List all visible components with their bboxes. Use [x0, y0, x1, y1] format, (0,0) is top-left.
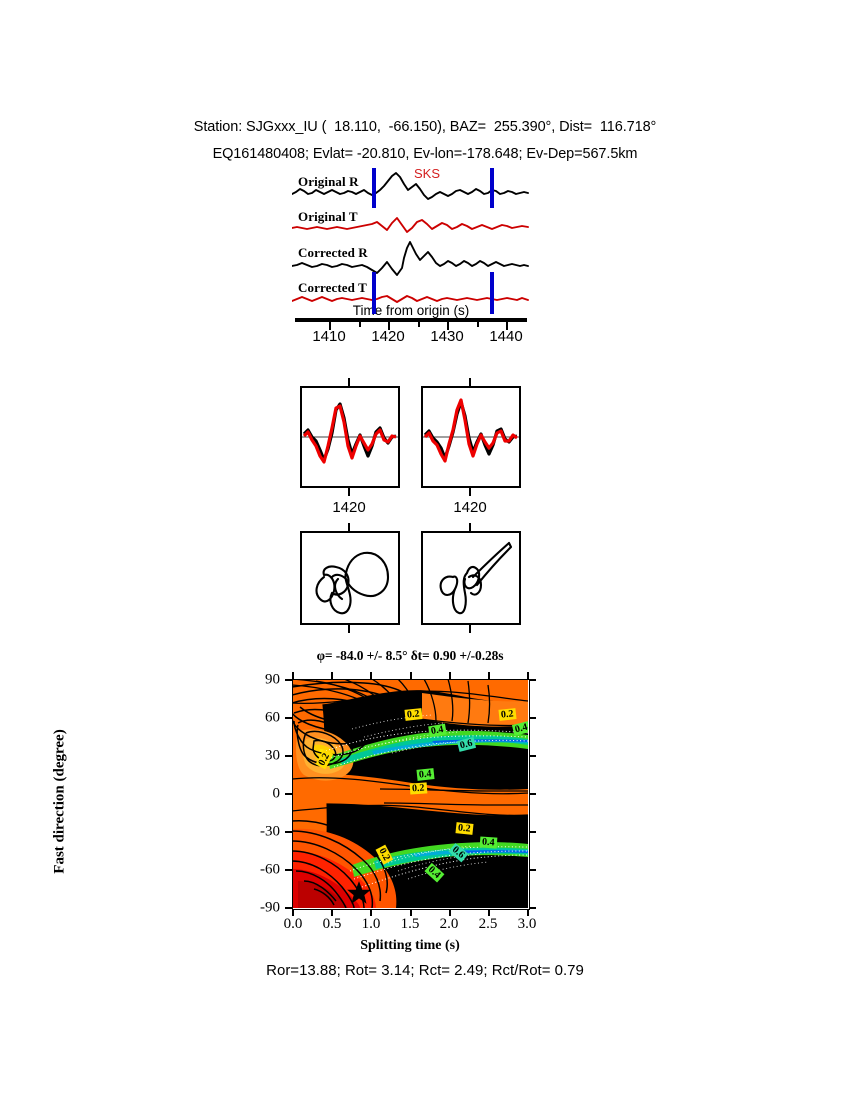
particle-motion-panel-1 [300, 531, 400, 625]
xtick-0-0 [292, 909, 294, 916]
ylabel-0: 0 [238, 786, 280, 803]
time-tick-minor-3 [477, 322, 479, 327]
pm2-top-tick [469, 523, 471, 531]
panel1-trace-red [304, 406, 396, 462]
xtick-0-5 [331, 909, 333, 916]
xtick-top-2-0 [449, 672, 451, 679]
error-surface-contour-plot: 0.2 0.4 0.2 0.4 0.6 0.2 0.4 0.2 0.2 0.4 … [292, 679, 528, 908]
ytick-right-m90 [529, 907, 536, 909]
ytick-m90 [285, 907, 292, 909]
pm2-bottom-tick [469, 625, 471, 633]
ylabel-90: 90 [238, 672, 280, 689]
seismic-splitting-figure: Station: SJGxxx_IU ( 18.110, -66.150), B… [0, 0, 850, 1100]
panel2-top-tick [469, 378, 471, 386]
ylabel-30: 30 [238, 748, 280, 765]
fast-slow-panel-2 [421, 386, 521, 488]
xtick-top-0-0 [292, 672, 294, 679]
fast-slow-panel-1 [300, 386, 400, 488]
particle-motion-panel-2 [421, 531, 521, 625]
xtick-top-1-0 [370, 672, 372, 679]
xlabel-3-0: 3.0 [518, 916, 537, 933]
ytick-right-90 [529, 679, 536, 681]
panel1-top-tick [348, 378, 350, 386]
y-axis-title: Fast direction (degree) [52, 687, 69, 917]
pm1-top-tick [348, 523, 350, 531]
ytick-right-m60 [529, 869, 536, 871]
ytick-m30 [285, 831, 292, 833]
splitting-result-title: φ= -84.0 +/- 8.5° δt= 0.90 +/-0.28s [292, 648, 528, 664]
x-axis-title: Splitting time (s) [292, 938, 528, 954]
fast-slow-traces-1 [302, 388, 398, 486]
xtick-2-0 [449, 909, 451, 916]
xlabel-2-5: 2.5 [479, 916, 498, 933]
window-start-marker-bottom [372, 272, 376, 314]
contour-label-1: 0.2 [404, 708, 422, 721]
time-tick-minor-1 [359, 322, 361, 327]
time-axis-title: Time from origin (s) [292, 303, 530, 318]
xtick-top-1-5 [410, 672, 412, 679]
particle-motion-path-2 [423, 533, 519, 623]
trace-label-corrected-r: Corrected R [298, 245, 368, 261]
xlabel-1-5: 1.5 [401, 916, 420, 933]
xtick-1-5 [410, 909, 412, 916]
xtick-top-3-0 [527, 672, 529, 679]
contour-label-7: 0.4 [416, 768, 434, 781]
xtick-2-5 [488, 909, 490, 916]
xtick-top-0-5 [331, 672, 333, 679]
ytick-90 [285, 679, 292, 681]
station-info-line: Station: SJGxxx_IU ( 18.110, -66.150), B… [0, 119, 850, 135]
event-info-line: EQ161480408; Evlat= -20.810, Ev-lon=-178… [0, 146, 850, 162]
ytick-right-m30 [529, 831, 536, 833]
fast-slow-traces-2 [423, 388, 519, 486]
contour-label-3: 0.2 [498, 708, 516, 721]
time-ticklabel-1410: 1410 [312, 328, 345, 345]
window-end-marker-top [490, 168, 494, 208]
time-ticklabel-1440: 1440 [489, 328, 522, 345]
ytick-30 [285, 755, 292, 757]
xtick-3-0 [527, 909, 529, 916]
sks-phase-label: SKS [414, 166, 440, 181]
ylabel-60: 60 [238, 710, 280, 727]
xlabel-2-0: 2.0 [440, 916, 459, 933]
pm1-bottom-tick [348, 625, 350, 633]
ytick-60 [285, 717, 292, 719]
time-ticklabel-1430: 1430 [430, 328, 463, 345]
xlabel-1-0: 1.0 [362, 916, 381, 933]
trace-label-corrected-t: Corrected T [298, 280, 367, 296]
quality-metrics-line: Ror=13.88; Rot= 3.14; Rct= 2.49; Rct/Rot… [0, 962, 850, 979]
panel2-bottom-tick [469, 488, 471, 496]
ylabel-m90: -90 [234, 900, 280, 917]
xlabel-0-5: 0.5 [323, 916, 342, 933]
ylabel-m30: -30 [234, 824, 280, 841]
ytick-right-60 [529, 717, 536, 719]
ytick-0 [285, 793, 292, 795]
window-end-marker-bottom [490, 272, 494, 314]
contour-label-8: 0.2 [410, 782, 427, 794]
trace-label-original-t: Original T [298, 209, 358, 225]
xtick-1-0 [370, 909, 372, 916]
waveform-panel: Original R Original T Corrected R Correc… [292, 168, 529, 313]
ytick-right-0 [529, 793, 536, 795]
trace-label-original-r: Original R [298, 174, 359, 190]
ylabel-m60: -60 [234, 862, 280, 879]
xtick-top-2-5 [488, 672, 490, 679]
xlabel-0-0: 0.0 [284, 916, 303, 933]
window-start-marker-top [372, 168, 376, 208]
contour-label-9: 0.2 [455, 822, 473, 835]
ytick-m60 [285, 869, 292, 871]
particle-motion-path-1 [302, 533, 398, 623]
contour-label-10: 0.4 [480, 836, 497, 848]
panel1-ticklabel: 1420 [332, 499, 365, 516]
panel1-bottom-tick [348, 488, 350, 496]
ytick-right-30 [529, 755, 536, 757]
time-tick-minor-2 [418, 322, 420, 327]
panel2-ticklabel: 1420 [453, 499, 486, 516]
time-ticklabel-1420: 1420 [371, 328, 404, 345]
